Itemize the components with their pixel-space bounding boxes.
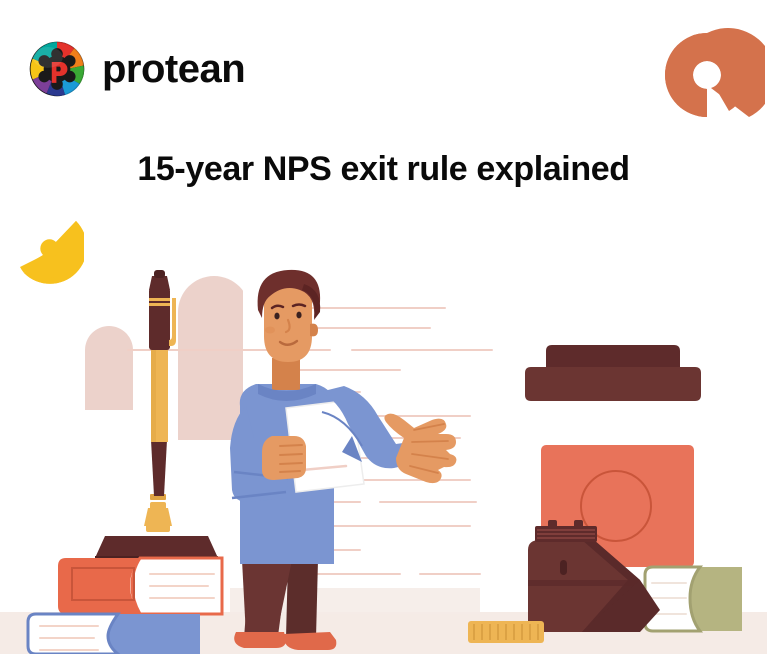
book-stack-coral: [58, 558, 222, 614]
man-explaining-documents-illustration: [0, 240, 767, 654]
shoe-right: [284, 632, 337, 650]
poster-canvas: protean 15-year NPS exit rule explained: [0, 0, 767, 654]
fountain-pen: [144, 270, 176, 532]
hand-left: [262, 436, 306, 480]
protean-petal-globe-icon: [28, 40, 86, 98]
book-olive: [645, 567, 742, 631]
brand-name: protean: [102, 49, 245, 89]
ruler-strip: [468, 621, 544, 643]
page-title: 15-year NPS exit rule explained: [0, 150, 767, 189]
brand-lockup: protean: [28, 40, 245, 98]
orange-c-arc-icon: [655, 25, 765, 125]
shoe-left: [234, 632, 286, 648]
box-lid: [525, 345, 701, 401]
book-stack-blue: [28, 614, 200, 654]
background-arch-small: [85, 326, 133, 410]
